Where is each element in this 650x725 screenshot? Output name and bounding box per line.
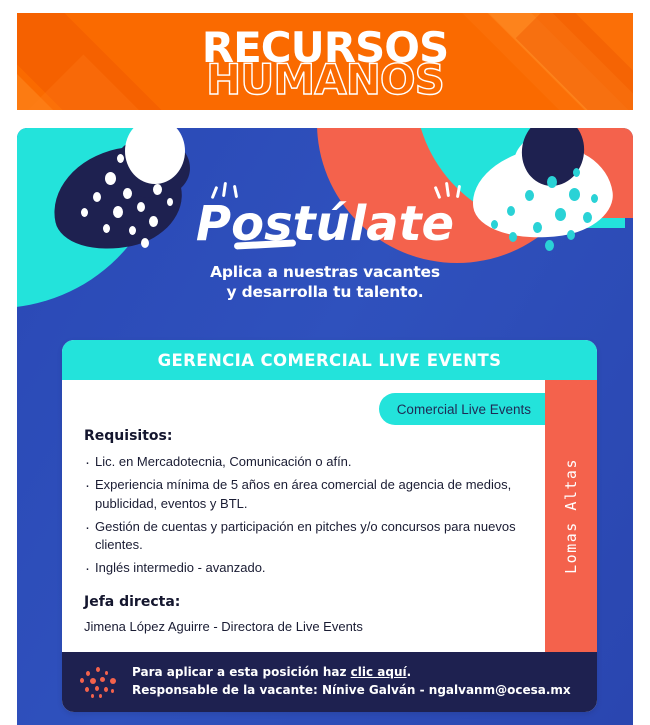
requirements-list: Lic. en Mercadotecnia, Comunicación o af…	[84, 453, 525, 578]
direct-manager-block: Jefa directa: Jimena López Aguirre - Dir…	[84, 594, 525, 634]
list-item: Inglés intermedio - avanzado.	[84, 559, 525, 578]
direct-manager-heading: Jefa directa:	[84, 594, 525, 610]
header-banner: RECURSOS HUMANOS	[17, 13, 633, 110]
list-item: Experiencia mínima de 5 años en área com…	[84, 476, 525, 514]
job-card-main: Comercial Live Events Requisitos: Lic. e…	[62, 380, 545, 652]
location-strip: Lomas Altas	[545, 380, 597, 652]
job-card-footer: Para aplicar a esta posición haz clic aq…	[62, 652, 597, 712]
apply-link[interactable]: clic aquí	[351, 665, 407, 679]
footer-text-block: Para aplicar a esta posición haz clic aq…	[132, 663, 571, 699]
list-item: Gestión de cuentas y participación en pi…	[84, 518, 525, 556]
confetti-dot	[547, 176, 557, 188]
job-card-body: Comercial Live Events Requisitos: Lic. e…	[62, 380, 597, 652]
confetti-dot	[105, 172, 116, 185]
job-card-header: GERENCIA COMERCIAL LIVE EVENTS	[62, 340, 597, 380]
sparkle-icon	[222, 182, 227, 197]
page-title: Postúlate	[196, 196, 454, 252]
banner-title: RECURSOS HUMANOS	[17, 31, 633, 98]
job-title: GERENCIA COMERCIAL LIVE EVENTS	[158, 351, 502, 370]
job-posting-page: RECURSOS HUMANOS	[0, 0, 650, 725]
banner-title-line-2: HUMANOS	[17, 63, 633, 97]
apply-line: Para aplicar a esta posición haz clic aq…	[132, 663, 571, 681]
main-panel: Postúlate Aplica a nuestras vacantes y d…	[17, 128, 633, 725]
confetti-dot	[117, 154, 124, 163]
requirements-heading: Requisitos:	[84, 428, 525, 444]
hero-subtitle: Aplica a nuestras vacantes y desarrolla …	[17, 262, 633, 302]
hero-title-block: Postúlate Aplica a nuestras vacantes y d…	[17, 196, 633, 302]
hero-subtitle-line-2: y desarrolla tu talento.	[17, 282, 633, 302]
direct-manager-name: Jimena López Aguirre - Directora de Live…	[84, 619, 525, 634]
department-badge: Comercial Live Events	[379, 393, 545, 425]
job-card: GERENCIA COMERCIAL LIVE EVENTS Comercial…	[62, 340, 597, 712]
confetti-dot	[153, 184, 162, 195]
list-item: Lic. en Mercadotecnia, Comunicación o af…	[84, 453, 525, 472]
location-label: Lomas Altas	[562, 458, 580, 574]
apply-suffix: .	[407, 665, 412, 679]
hero-subtitle-line-1: Aplica a nuestras vacantes	[17, 262, 633, 282]
dots-burst-icon	[78, 663, 120, 699]
confetti-dot	[573, 168, 580, 177]
apply-prefix: Para aplicar a esta posición haz	[132, 665, 351, 679]
responsible-line: Responsable de la vacante: Nínive Galván…	[132, 681, 571, 699]
